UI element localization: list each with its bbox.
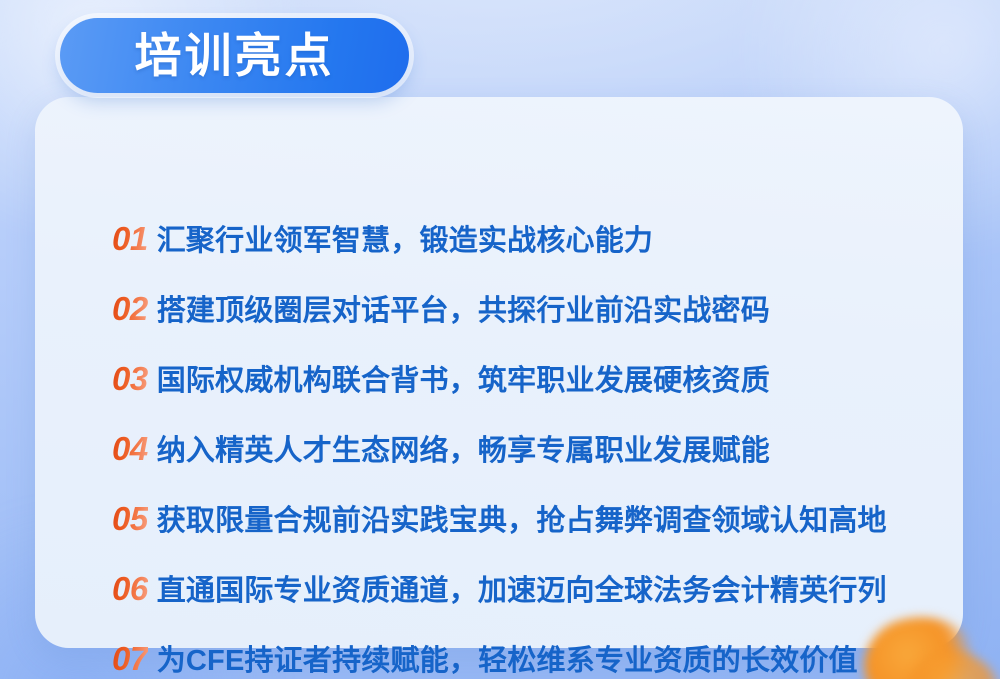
section-title-text: 培训亮点 <box>135 32 335 79</box>
highlight-item-number: 07 <box>112 642 148 675</box>
highlight-item: 04纳入精英人才生态网络，畅享专属职业发展赋能 <box>112 432 933 502</box>
highlight-item-text: 获取限量合规前沿实践宝典，抢占舞弊调查领域认知高地 <box>157 507 887 536</box>
highlight-item: 02搭建顶级圈层对话平台，共探行业前沿实战密码 <box>112 292 933 362</box>
highlight-item: 06直通国际专业资质通道，加速迈向全球法务会计精英行列 <box>112 572 933 642</box>
highlight-item-text: 纳入精英人才生态网络，畅享专属职业发展赋能 <box>157 437 770 466</box>
highlight-item-number: 06 <box>112 572 148 605</box>
highlights-list: 01汇聚行业领军智慧，锻造实战核心能力02搭建顶级圈层对话平台，共探行业前沿实战… <box>112 222 933 679</box>
highlight-item-number: 05 <box>112 502 148 535</box>
highlight-item-text: 为CFE持证者持续赋能，轻松维系专业资质的长效价值 <box>157 647 858 676</box>
poster-canvas: 01汇聚行业领军智慧，锻造实战核心能力02搭建顶级圈层对话平台，共探行业前沿实战… <box>0 0 1000 679</box>
highlight-item: 05获取限量合规前沿实践宝典，抢占舞弊调查领域认知高地 <box>112 502 933 572</box>
highlights-card: 01汇聚行业领军智慧，锻造实战核心能力02搭建顶级圈层对话平台，共探行业前沿实战… <box>35 97 963 648</box>
highlight-item-number: 02 <box>112 292 148 325</box>
highlight-item-text: 汇聚行业领军智慧，锻造实战核心能力 <box>157 227 653 256</box>
highlight-item-number: 03 <box>112 362 148 395</box>
highlight-item-number: 01 <box>112 222 148 255</box>
highlight-item-text: 搭建顶级圈层对话平台，共探行业前沿实战密码 <box>157 297 770 326</box>
section-title-badge: 培训亮点 <box>60 18 409 93</box>
highlight-item-text: 国际权威机构联合背书，筑牢职业发展硬核资质 <box>157 367 770 396</box>
highlight-item-text: 直通国际专业资质通道，加速迈向全球法务会计精英行列 <box>157 577 887 606</box>
highlight-item: 03国际权威机构联合背书，筑牢职业发展硬核资质 <box>112 362 933 432</box>
highlight-item-number: 04 <box>112 432 148 465</box>
highlight-item: 01汇聚行业领军智慧，锻造实战核心能力 <box>112 222 933 292</box>
highlight-item: 07为CFE持证者持续赋能，轻松维系专业资质的长效价值 <box>112 642 933 679</box>
